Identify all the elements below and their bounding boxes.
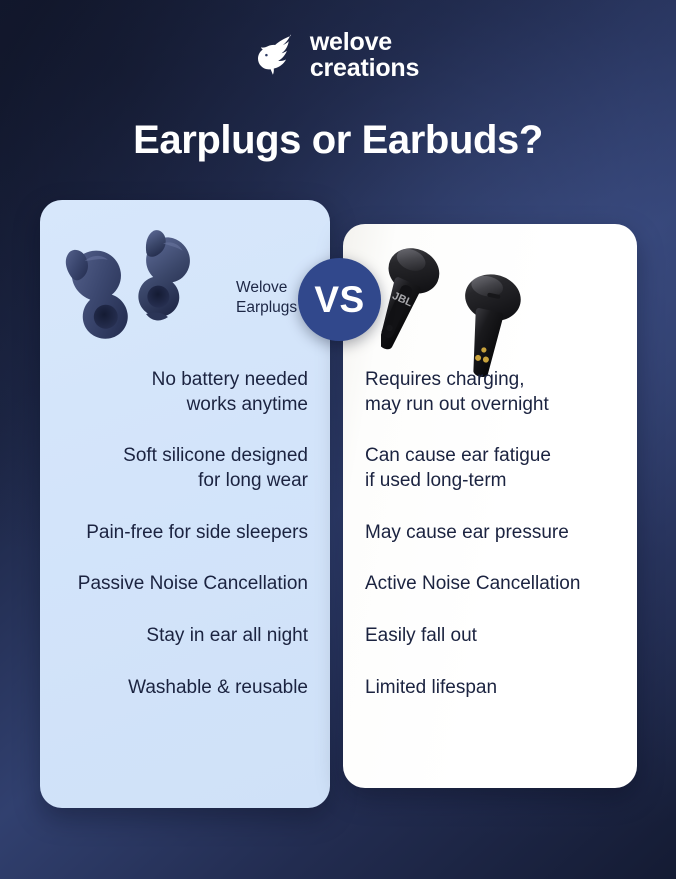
page-title: Earplugs or Earbuds? bbox=[0, 118, 676, 163]
list-item: Pain-free for side sleepers bbox=[54, 521, 308, 546]
feature-line: Active Noise Cancellation bbox=[365, 572, 623, 597]
feature-line: Soft silicone designed bbox=[54, 444, 308, 469]
feature-line: Stay in ear all night bbox=[54, 624, 308, 649]
list-item: May cause ear pressure bbox=[365, 521, 623, 546]
list-item: Washable & reusable bbox=[54, 676, 308, 701]
earplugs-comparison-card: Welove Earplugs No battery needed works … bbox=[40, 200, 330, 808]
list-item: Limited lifespan bbox=[365, 676, 623, 701]
list-item: Stay in ear all night bbox=[54, 624, 308, 649]
dove-bird-icon bbox=[257, 33, 297, 79]
versus-badge: VS bbox=[298, 258, 381, 341]
feature-line: Easily fall out bbox=[365, 624, 623, 649]
feature-line: works anytime bbox=[54, 393, 308, 418]
earplugs-feature-list: No battery needed works anytime Soft sil… bbox=[40, 368, 330, 701]
list-item: Can cause ear fatigue if used long-term bbox=[365, 444, 623, 493]
brand-logo: welove creations bbox=[0, 30, 676, 81]
infographic-canvas: welove creations Earplugs or Earbuds? bbox=[0, 0, 676, 879]
list-item: Easily fall out bbox=[365, 624, 623, 649]
brand-wordmark: welove creations bbox=[310, 30, 419, 81]
feature-line: Can cause ear fatigue bbox=[365, 444, 623, 469]
feature-line: Passive Noise Cancellation bbox=[54, 572, 308, 597]
feature-line: Pain-free for side sleepers bbox=[54, 521, 308, 546]
earbuds-feature-list: Requires charging, may run out overnight… bbox=[343, 368, 637, 701]
list-item: No battery needed works anytime bbox=[54, 368, 308, 417]
feature-line: may run out overnight bbox=[365, 393, 623, 418]
feature-line: May cause ear pressure bbox=[365, 521, 623, 546]
list-item: Active Noise Cancellation bbox=[365, 572, 623, 597]
brand-name-line2: creations bbox=[310, 56, 419, 82]
list-item: Soft silicone designed for long wear bbox=[54, 444, 308, 493]
earbuds-comparison-card: JBL Requires charging, may run out overn… bbox=[343, 224, 637, 788]
feature-line: Requires charging, bbox=[365, 368, 623, 393]
feature-line: for long wear bbox=[54, 469, 308, 494]
brand-name-line1: welove bbox=[310, 30, 419, 56]
feature-line: Washable & reusable bbox=[54, 676, 308, 701]
feature-line: if used long-term bbox=[365, 469, 623, 494]
feature-line: Limited lifespan bbox=[365, 676, 623, 701]
list-item: Passive Noise Cancellation bbox=[54, 572, 308, 597]
welove-earplugs-image bbox=[50, 222, 265, 352]
wireless-earbuds-image: JBL bbox=[381, 230, 571, 380]
list-item: Requires charging, may run out overnight bbox=[365, 368, 623, 417]
feature-line: No battery needed bbox=[54, 368, 308, 393]
